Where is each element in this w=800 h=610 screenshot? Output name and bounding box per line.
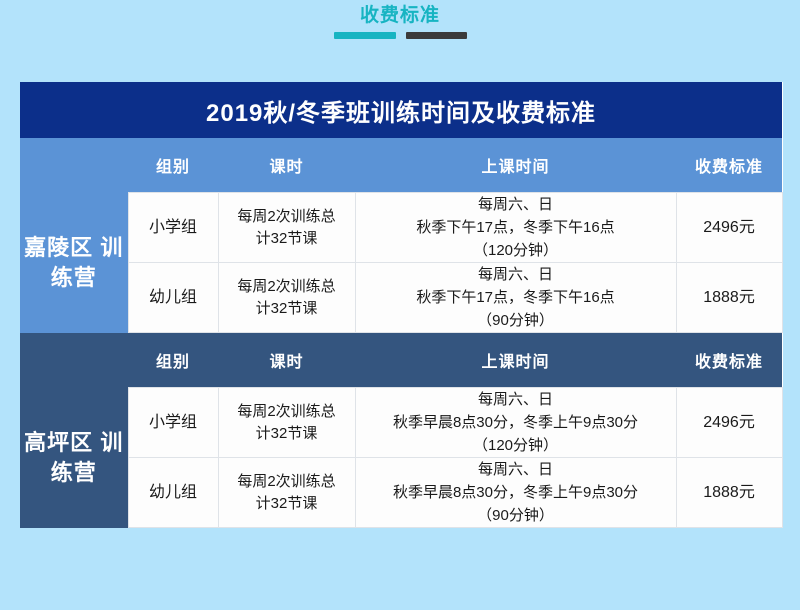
cell-time-line2: 秋季下午17点，冬季下午16点 bbox=[356, 286, 676, 309]
section-corner-jialing bbox=[20, 138, 128, 193]
section-header-row-gaoping: 组别 课时 上课时间 收费标准 bbox=[20, 333, 782, 388]
cell-hours-line1: 每周2次训练总 bbox=[219, 471, 355, 493]
banner-title: 2019秋/冬季班训练时间及收费标准 bbox=[20, 82, 782, 138]
cell-time-line3: （90分钟） bbox=[356, 504, 676, 527]
fee-schedule-table: 2019秋/冬季班训练时间及收费标准 组别 课时 上课时间 收费标准 嘉陵区 训… bbox=[20, 82, 783, 528]
column-header-time: 上课时间 bbox=[355, 138, 676, 193]
column-header-fee: 收费标准 bbox=[676, 138, 782, 193]
column-header-fee: 收费标准 bbox=[676, 333, 782, 388]
section-label-line1: 高坪区 bbox=[24, 430, 93, 455]
page-title: 收费标准 bbox=[0, 4, 800, 28]
cell-group: 幼儿组 bbox=[128, 458, 218, 528]
column-header-group: 组别 bbox=[128, 333, 218, 388]
table-row: 嘉陵区 训练营 小学组 每周2次训练总 计32节课 每周六、日 秋季下午17点，… bbox=[20, 193, 782, 263]
cell-group: 小学组 bbox=[128, 193, 218, 263]
cell-group: 小学组 bbox=[128, 388, 218, 458]
cell-time: 每周六、日 秋季下午17点，冬季下午16点 （90分钟） bbox=[355, 263, 676, 333]
section-label-jialing: 嘉陵区 训练营 bbox=[20, 193, 128, 333]
cell-time-line2: 秋季下午17点，冬季下午16点 bbox=[356, 216, 676, 239]
cell-time: 每周六、日 秋季下午17点，冬季下午16点 （120分钟） bbox=[355, 193, 676, 263]
cell-hours-line1: 每周2次训练总 bbox=[219, 276, 355, 298]
cell-time: 每周六、日 秋季早晨8点30分，冬季上午9点30分 （120分钟） bbox=[355, 388, 676, 458]
cell-hours: 每周2次训练总 计32节课 bbox=[218, 263, 355, 333]
cell-fee: 1888元 bbox=[676, 263, 782, 333]
heading-underline-group bbox=[0, 32, 800, 39]
cell-hours-line2: 计32节课 bbox=[219, 493, 355, 515]
table-banner-row: 2019秋/冬季班训练时间及收费标准 bbox=[20, 82, 782, 138]
cell-time-line2: 秋季早晨8点30分，冬季上午9点30分 bbox=[356, 481, 676, 504]
cell-time-line3: （120分钟） bbox=[356, 434, 676, 457]
table-row: 高坪区 训练营 小学组 每周2次训练总 计32节课 每周六、日 秋季早晨8点30… bbox=[20, 388, 782, 458]
cell-time-line1: 每周六、日 bbox=[356, 458, 676, 481]
cell-fee: 2496元 bbox=[676, 388, 782, 458]
page-header: 收费标准 bbox=[0, 0, 800, 82]
cell-fee: 2496元 bbox=[676, 193, 782, 263]
cell-hours-line1: 每周2次训练总 bbox=[219, 206, 355, 228]
cell-time-line1: 每周六、日 bbox=[356, 263, 676, 286]
cell-hours-line2: 计32节课 bbox=[219, 298, 355, 320]
cell-time-line3: （120分钟） bbox=[356, 239, 676, 262]
cell-time: 每周六、日 秋季早晨8点30分，冬季上午9点30分 （90分钟） bbox=[355, 458, 676, 528]
underline-bar-teal bbox=[334, 32, 396, 39]
cell-hours-line1: 每周2次训练总 bbox=[219, 401, 355, 423]
table-row: 幼儿组 每周2次训练总 计32节课 每周六、日 秋季下午17点，冬季下午16点 … bbox=[20, 263, 782, 333]
cell-fee: 1888元 bbox=[676, 458, 782, 528]
underline-bar-dark bbox=[406, 32, 467, 39]
cell-hours: 每周2次训练总 计32节课 bbox=[218, 388, 355, 458]
section-header-row-jialing: 组别 课时 上课时间 收费标准 bbox=[20, 138, 782, 193]
cell-time-line1: 每周六、日 bbox=[356, 388, 676, 411]
section-corner-gaoping bbox=[20, 333, 128, 388]
cell-time-line3: （90分钟） bbox=[356, 309, 676, 332]
cell-hours: 每周2次训练总 计32节课 bbox=[218, 193, 355, 263]
cell-group: 幼儿组 bbox=[128, 263, 218, 333]
cell-hours: 每周2次训练总 计32节课 bbox=[218, 458, 355, 528]
section-label-line1: 嘉陵区 bbox=[24, 235, 93, 260]
cell-hours-line2: 计32节课 bbox=[219, 423, 355, 445]
table-row: 幼儿组 每周2次训练总 计32节课 每周六、日 秋季早晨8点30分，冬季上午9点… bbox=[20, 458, 782, 528]
column-header-hours: 课时 bbox=[218, 333, 355, 388]
cell-time-line1: 每周六、日 bbox=[356, 193, 676, 216]
cell-hours-line2: 计32节课 bbox=[219, 228, 355, 250]
section-label-gaoping: 高坪区 训练营 bbox=[20, 388, 128, 528]
column-header-time: 上课时间 bbox=[355, 333, 676, 388]
cell-time-line2: 秋季早晨8点30分，冬季上午9点30分 bbox=[356, 411, 676, 434]
column-header-hours: 课时 bbox=[218, 138, 355, 193]
column-header-group: 组别 bbox=[128, 138, 218, 193]
